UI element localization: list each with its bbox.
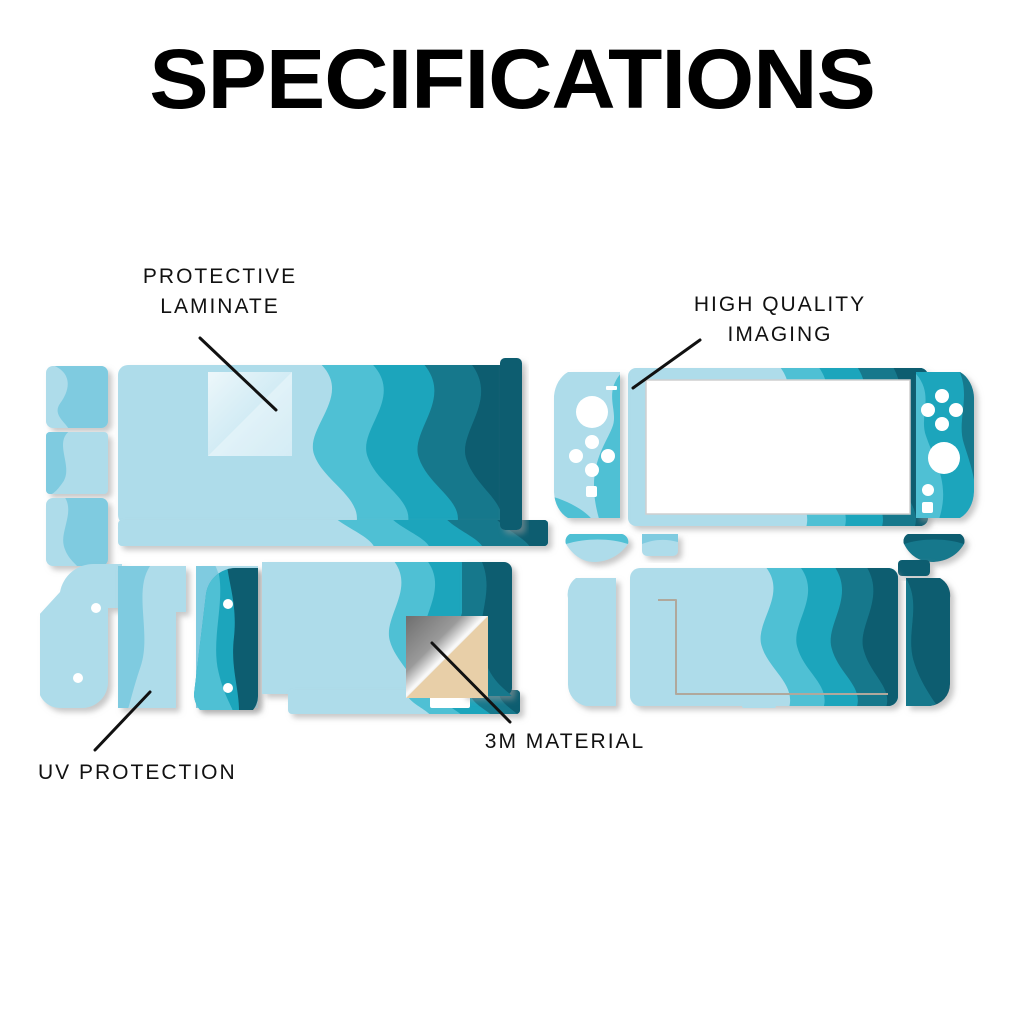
trigger-right — [903, 534, 964, 562]
minus-button-cutout — [606, 386, 617, 390]
joycon-side-rails — [40, 560, 261, 710]
rail-left-inner — [112, 566, 192, 708]
skin-kit-illustration — [0, 0, 1024, 1024]
joycon-right-front — [910, 368, 980, 522]
plus-button-cutout — [922, 502, 933, 513]
home-button-cutout — [922, 484, 934, 496]
dpad-left-cutout — [569, 449, 583, 463]
back-port-cutout — [742, 700, 776, 708]
joycon-left-back — [560, 570, 624, 712]
rail-accent-right — [898, 560, 930, 576]
screw-hole-bottom — [223, 683, 233, 693]
dpad-down-cutout — [585, 463, 599, 477]
dpad-up-cutout — [585, 435, 599, 449]
specifications-page: SPECIFICATIONS — [0, 0, 1024, 1024]
button-a-cutout — [949, 403, 963, 417]
button-x-cutout — [935, 389, 949, 403]
screw-hole-top — [91, 603, 101, 613]
strip-bottom — [46, 498, 108, 566]
dock-right-edge — [500, 358, 522, 530]
console-front-bezel — [628, 368, 928, 526]
screw-hole-top — [223, 599, 233, 609]
callout-uv-protection: UV PROTECTION — [10, 758, 338, 788]
callout-3m-material: 3M MATERIAL — [400, 727, 730, 757]
joycon-left-front — [550, 368, 626, 522]
dock-side-strips — [46, 366, 108, 566]
rail-left-outer — [40, 560, 130, 710]
button-y-cutout — [921, 403, 935, 417]
trigger-left — [565, 534, 628, 562]
button-b-cutout — [935, 417, 949, 431]
rail-accent-left — [642, 534, 678, 556]
strip-top — [46, 366, 108, 428]
capture-button-cutout — [586, 486, 597, 497]
joycon-right-back — [900, 570, 962, 712]
callout-high-quality-imaging: HIGH QUALITY IMAGING — [620, 290, 940, 350]
dock-back-panel — [262, 562, 532, 724]
screw-hole-bottom — [73, 673, 83, 683]
analog-stick-cutout — [928, 442, 960, 474]
dock-front-panel — [118, 358, 548, 555]
analog-stick-cutout — [576, 396, 608, 428]
console-back-panel — [560, 568, 962, 712]
callout-protective-laminate: PROTECTIVE LAMINATE — [60, 262, 380, 322]
screen-cutout — [646, 380, 910, 514]
strip-middle — [46, 432, 108, 494]
dpad-right-cutout — [601, 449, 615, 463]
